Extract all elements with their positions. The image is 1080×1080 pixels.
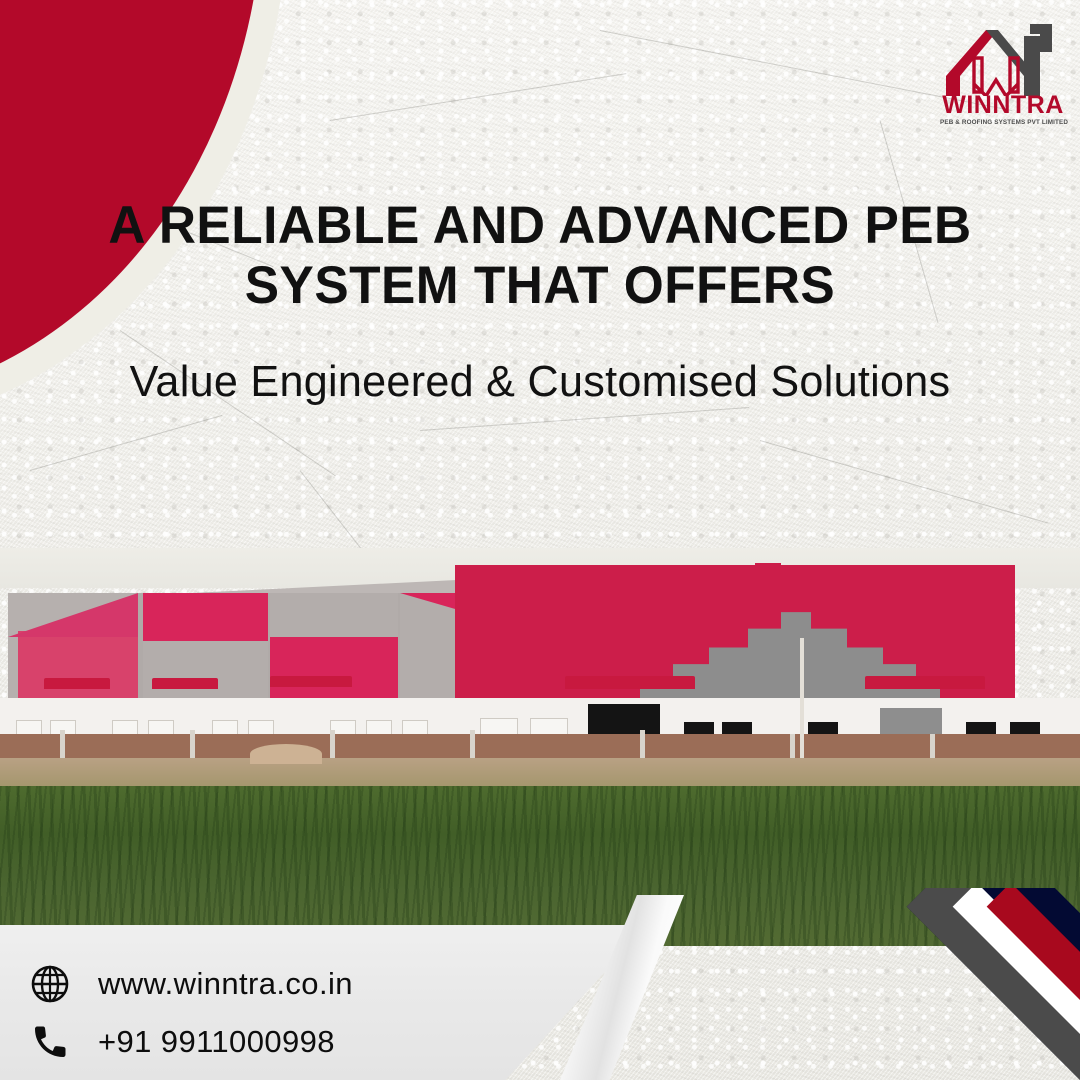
- wall-panel: [18, 631, 138, 701]
- brand-logo[interactable]: WINNTRA PEB & ROOFING SYSTEMS PVT LIMITE…: [940, 18, 1066, 146]
- headline-line-1: A RELIABLE AND ADVANCED PEB: [55, 196, 1025, 256]
- phone-icon: [28, 1020, 72, 1064]
- website-label: www.winntra.co.in: [98, 966, 353, 1002]
- wall-crack: [420, 407, 749, 431]
- headline: A RELIABLE AND ADVANCED PEB SYSTEM THAT …: [0, 196, 1080, 316]
- logo-wordmark: WINNTRA: [940, 93, 1066, 118]
- phone-contact-row[interactable]: +91 9911000998: [28, 1020, 335, 1064]
- subheadline: Value Engineered & Customised Solutions: [11, 357, 1069, 407]
- wall-crack: [330, 73, 626, 121]
- wall-panel: [143, 641, 268, 701]
- light-pole: [800, 638, 804, 766]
- headline-line-2: SYSTEM THAT OFFERS: [55, 256, 1025, 316]
- logo-tagline: PEB & ROOFING SYSTEMS PVT LIMITED: [940, 120, 1066, 126]
- wall-panel: [270, 637, 398, 701]
- globe-icon: [28, 962, 72, 1006]
- poster-canvas: WINNTRA PEB & ROOFING SYSTEMS PVT LIMITE…: [0, 0, 1080, 1080]
- sand-mound: [250, 744, 322, 764]
- entrance-canopy: [565, 676, 695, 689]
- wall-crack: [760, 440, 1049, 524]
- contact-footer-content: www.winntra.co.in +91 9911000998: [0, 925, 648, 1080]
- wall-crack: [30, 415, 223, 471]
- corner-stripes: [875, 888, 1080, 1080]
- entrance-canopy: [152, 678, 218, 689]
- entrance-canopy: [44, 678, 110, 689]
- website-contact-row[interactable]: www.winntra.co.in: [28, 962, 353, 1006]
- house-roof-logo-icon: [940, 18, 1066, 96]
- entrance-canopy: [270, 676, 352, 687]
- phone-label: +91 9911000998: [98, 1024, 335, 1060]
- entrance-canopy: [865, 676, 985, 689]
- roof-vent: [755, 563, 781, 583]
